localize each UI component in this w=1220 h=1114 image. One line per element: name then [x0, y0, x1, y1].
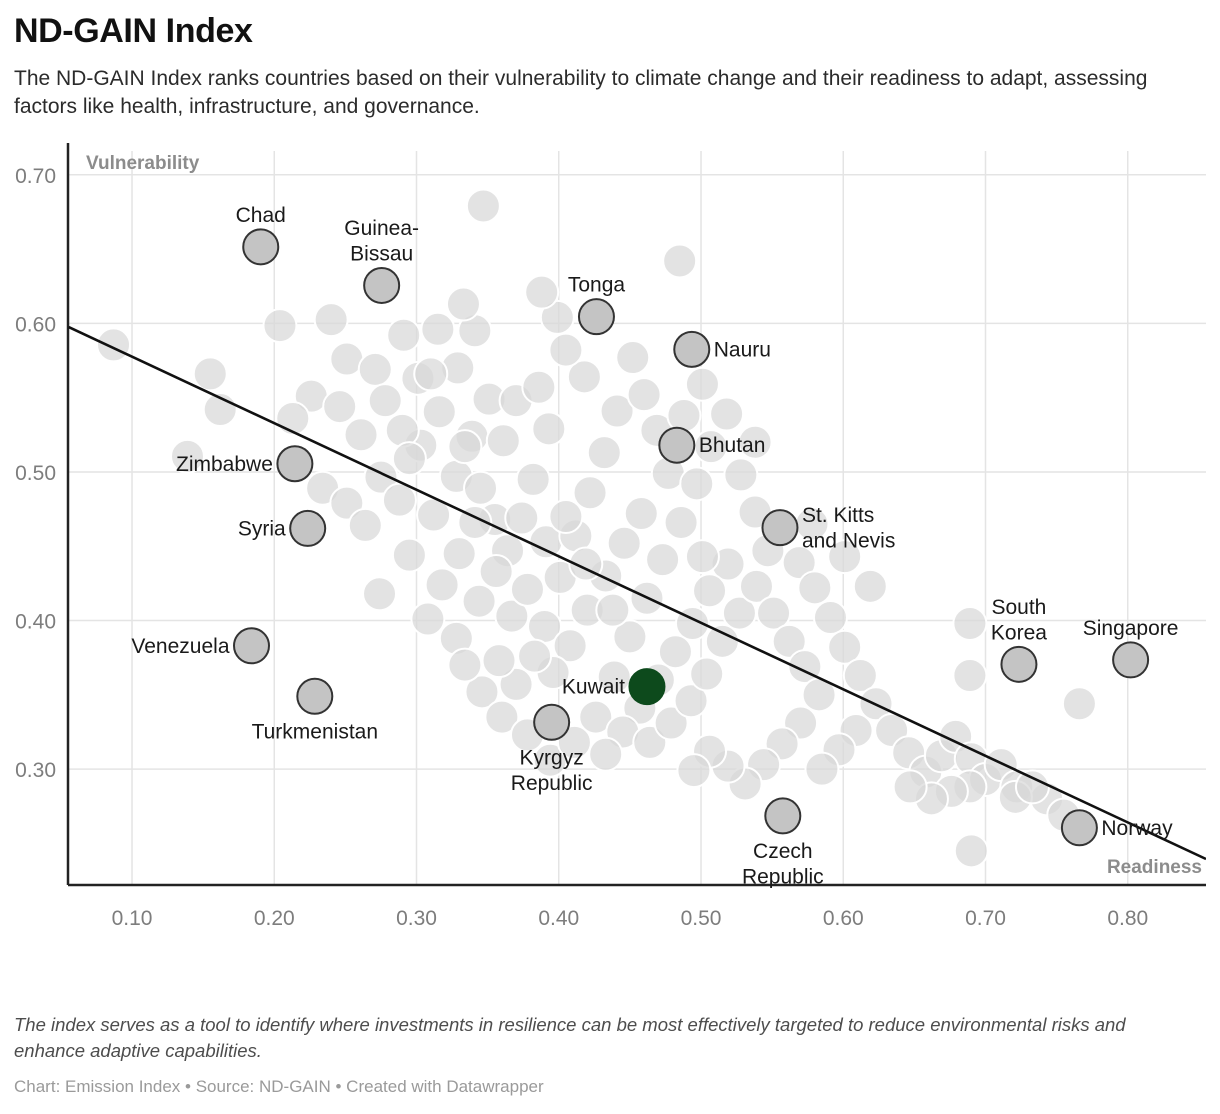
x-tick-label-3: 0.40 — [538, 907, 579, 929]
data-point — [710, 397, 743, 430]
chart-page: ND-GAIN Index The ND-GAIN Index ranks co… — [0, 12, 1220, 1114]
data-point — [480, 555, 513, 588]
data-point — [589, 737, 622, 770]
data-point — [448, 648, 481, 681]
data-point — [363, 577, 396, 610]
data-point — [663, 244, 696, 277]
data-point — [690, 657, 723, 690]
data-point-st-kitts-and-nevis[interactable] — [762, 510, 797, 545]
footnote-text: The index serves as a tool to identify w… — [14, 1012, 1194, 1063]
y-tick-label-0: 0.30 — [15, 759, 56, 782]
chart-subtitle: The ND-GAIN Index ranks countries based … — [14, 65, 1149, 120]
data-point — [464, 471, 497, 504]
point-label-tonga: Tonga — [568, 273, 626, 296]
x-tick-label-4: 0.50 — [681, 907, 722, 929]
data-point — [518, 639, 551, 672]
data-point — [276, 401, 309, 434]
data-point — [263, 309, 296, 342]
data-point — [194, 357, 227, 390]
point-label-norway: Norway — [1101, 816, 1173, 839]
data-point — [953, 659, 986, 692]
data-point — [1063, 687, 1096, 720]
point-label-czech-republic: CzechRepublic — [742, 839, 824, 888]
data-point-zimbabwe[interactable] — [277, 446, 312, 481]
data-point — [315, 303, 348, 336]
data-point-czech-republic[interactable] — [765, 798, 800, 833]
data-point — [686, 367, 719, 400]
data-point — [955, 834, 988, 867]
data-point — [448, 430, 481, 463]
page-title: ND-GAIN Index — [14, 12, 1206, 51]
data-point — [443, 537, 476, 570]
data-point — [525, 275, 558, 308]
data-point-nauru[interactable] — [674, 331, 709, 366]
data-point — [426, 568, 459, 601]
data-point-guinea-bissau[interactable] — [364, 267, 399, 302]
data-point-bhutan[interactable] — [659, 427, 694, 462]
data-point — [854, 569, 887, 602]
point-label-kuwait: Kuwait — [562, 675, 625, 698]
data-point — [532, 412, 565, 445]
data-point — [517, 462, 550, 495]
point-label-nauru: Nauru — [714, 338, 771, 361]
x-tick-label-0: 0.10 — [112, 907, 153, 929]
data-point — [588, 436, 621, 469]
data-point — [467, 189, 500, 222]
data-point — [393, 442, 426, 475]
data-point — [505, 501, 538, 534]
data-point — [805, 752, 838, 785]
data-point — [549, 500, 582, 533]
data-point — [724, 458, 757, 491]
data-point — [369, 384, 402, 417]
data-point — [628, 378, 661, 411]
point-label-chad: Chad — [236, 203, 286, 226]
data-point — [659, 635, 692, 668]
data-point — [421, 312, 454, 345]
point-label-zimbabwe: Zimbabwe — [176, 452, 273, 475]
data-point — [608, 526, 641, 559]
data-point-tonga[interactable] — [579, 299, 614, 334]
data-point — [680, 467, 713, 500]
point-label-guinea-bissau: Guinea-Bissau — [344, 216, 419, 265]
data-point — [522, 370, 555, 403]
data-point — [667, 399, 700, 432]
x-tick-label-2: 0.30 — [396, 907, 437, 929]
data-point — [393, 538, 426, 571]
data-point — [894, 770, 927, 803]
data-point — [686, 540, 719, 573]
scatter-plot-svg: VulnerabilityReadinessChadGuinea-BissauT… — [14, 139, 1206, 929]
data-point — [345, 418, 378, 451]
point-label-bhutan: Bhutan — [699, 434, 766, 457]
data-point — [447, 287, 480, 320]
data-point — [814, 601, 847, 634]
data-point — [693, 574, 726, 607]
data-point — [677, 754, 710, 787]
data-point-south-korea[interactable] — [1001, 646, 1036, 681]
data-point-turkmenistan[interactable] — [297, 678, 332, 713]
data-point — [411, 602, 444, 635]
data-point — [487, 424, 520, 457]
x-tick-label-1: 0.20 — [254, 907, 295, 929]
data-point-syria[interactable] — [290, 510, 325, 545]
point-label-venezuela: Venezuela — [131, 634, 229, 657]
data-point — [349, 508, 382, 541]
scatter-plot: VulnerabilityReadinessChadGuinea-BissauT… — [14, 139, 1206, 929]
data-point — [423, 395, 456, 428]
data-point — [596, 593, 629, 626]
data-point — [387, 318, 420, 351]
y-axis-title: Vulnerability — [86, 153, 200, 174]
x-tick-label-7: 0.80 — [1107, 907, 1148, 929]
point-label-syria: Syria — [238, 517, 286, 540]
data-point-kuwait[interactable] — [629, 669, 664, 704]
data-point — [383, 483, 416, 516]
source-credit: Chart: Emission Index • Source: ND-GAIN … — [14, 1077, 1194, 1097]
data-point-norway[interactable] — [1062, 810, 1097, 845]
x-axis-title: Readiness — [1107, 857, 1202, 878]
data-point — [414, 357, 447, 390]
data-point — [323, 390, 356, 423]
data-point — [625, 497, 658, 530]
data-point — [953, 607, 986, 640]
data-point — [1016, 770, 1049, 803]
data-point-singapore[interactable] — [1113, 642, 1148, 677]
data-point — [483, 644, 516, 677]
data-point-chad[interactable] — [243, 229, 278, 264]
y-tick-label-1: 0.40 — [15, 610, 56, 633]
data-point — [646, 543, 679, 576]
point-label-turkmenistan: Turkmenistan — [252, 720, 378, 743]
data-point — [665, 505, 698, 538]
y-tick-label-3: 0.60 — [15, 313, 56, 336]
point-label-singapore: Singapore — [1083, 616, 1179, 639]
chart-footer: The index serves as a tool to identify w… — [14, 1012, 1194, 1097]
data-point — [463, 584, 496, 617]
x-tick-label-6: 0.70 — [965, 907, 1006, 929]
y-tick-label-4: 0.70 — [15, 164, 56, 187]
data-point — [511, 572, 544, 605]
y-tick-label-2: 0.50 — [15, 461, 56, 484]
data-point — [97, 328, 130, 361]
data-point — [549, 333, 582, 366]
data-point — [616, 341, 649, 374]
data-point — [706, 624, 739, 657]
x-tick-label-5: 0.60 — [823, 907, 864, 929]
data-point — [359, 352, 392, 385]
data-point-kyrgyz-republic[interactable] — [534, 704, 569, 739]
data-point — [574, 476, 607, 509]
data-point-venezuela[interactable] — [234, 628, 269, 663]
data-point — [798, 571, 831, 604]
